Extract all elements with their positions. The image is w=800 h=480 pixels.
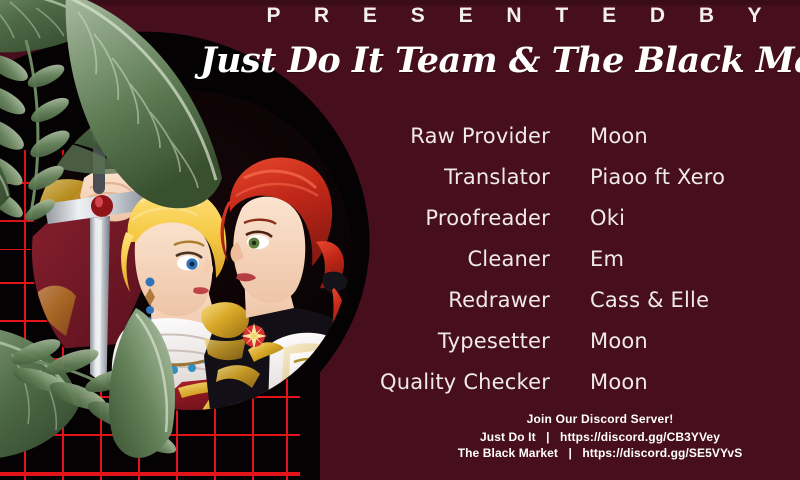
credit-row: Redrawer Cass & Elle: [380, 288, 780, 329]
credit-name: Moon: [590, 370, 648, 394]
credit-row: Proofreader Oki: [380, 206, 780, 247]
discord-separator: |: [561, 445, 578, 461]
credit-row: Translator Piaoo ft Xero: [380, 165, 780, 206]
studio-title: Just Do It Team & The Black Market: [200, 40, 796, 81]
discord-section: Join Our Discord Server! Just Do It | ht…: [400, 412, 800, 461]
credit-role: Redrawer: [380, 288, 550, 312]
artwork-circle: [32, 92, 350, 410]
credit-role: Raw Provider: [380, 124, 550, 148]
discord-server-label: The Black Market: [458, 446, 558, 460]
discord-link-row: Just Do It | https://discord.gg/CB3YVey: [400, 429, 800, 445]
discord-link-row: The Black Market | https://discord.gg/SE…: [400, 445, 800, 461]
credit-row: Typesetter Moon: [380, 329, 780, 370]
credit-name: Cass & Elle: [590, 288, 709, 312]
credit-role: Cleaner: [380, 247, 550, 271]
credit-name: Oki: [590, 206, 625, 230]
credits-page: P R E S E N T E D B Y Just Do It Team & …: [0, 0, 800, 480]
discord-invite-link[interactable]: https://discord.gg/CB3YVey: [560, 430, 720, 444]
credit-name: Moon: [590, 329, 648, 353]
credit-name: Piaoo ft Xero: [590, 165, 725, 189]
artwork-illustration: [32, 92, 350, 410]
credit-role: Quality Checker: [380, 370, 550, 394]
presented-by-heading: P R E S E N T E D B Y: [236, 4, 792, 28]
credit-row: Quality Checker Moon: [380, 370, 780, 411]
credit-name: Em: [590, 247, 624, 271]
credit-role: Typesetter: [380, 329, 550, 353]
discord-invite-link[interactable]: https://discord.gg/SE5VYvS: [582, 446, 742, 460]
discord-server-label: Just Do It: [480, 430, 536, 444]
credit-role: Proofreader: [380, 206, 550, 230]
credits-list: Raw Provider Moon Translator Piaoo ft Xe…: [380, 124, 780, 411]
credit-name: Moon: [590, 124, 648, 148]
credit-row: Cleaner Em: [380, 247, 780, 288]
credit-role: Translator: [380, 165, 550, 189]
discord-separator: |: [539, 429, 556, 445]
discord-heading: Join Our Discord Server!: [400, 412, 800, 426]
credit-row: Raw Provider Moon: [380, 124, 780, 165]
